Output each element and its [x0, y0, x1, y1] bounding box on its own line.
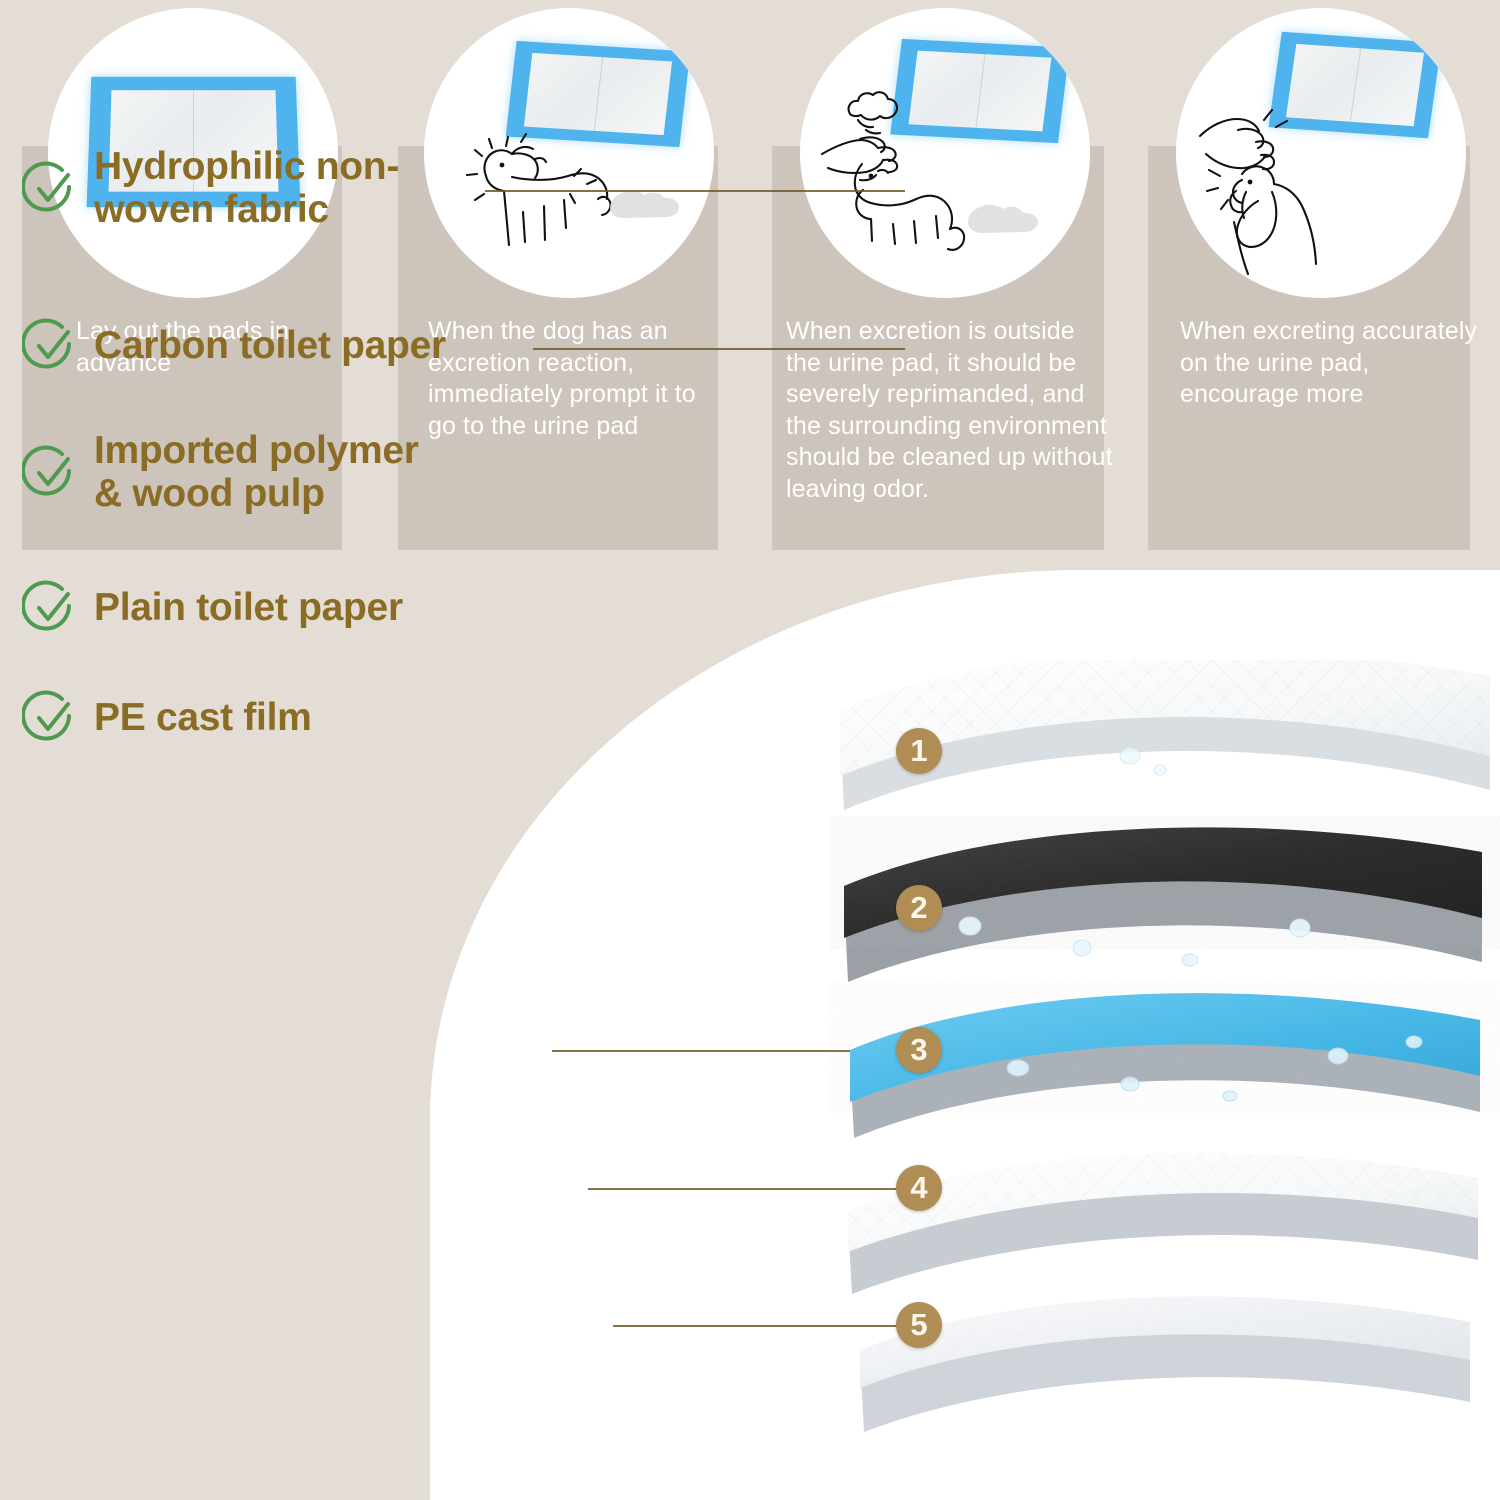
- layer-sheet-4: [848, 1153, 1478, 1294]
- dog-sniffing-icon: [424, 8, 714, 298]
- step-illustration-2: [424, 8, 714, 298]
- hand-scolding-dog-icon: [800, 8, 1090, 298]
- feature-row-3: Imported polymer & wood pulp: [22, 430, 419, 516]
- feature-row-5: PE cast film: [22, 690, 312, 746]
- step-caption-2: When the dog has an excretion reaction, …: [428, 316, 718, 442]
- feature-label-2: Carbon toilet paper: [94, 325, 446, 368]
- feature-row-2: Carbon toilet paper: [22, 318, 446, 374]
- feature-label-3: Imported polymer & wood pulp: [94, 430, 419, 516]
- check-circle-icon: [22, 580, 78, 636]
- feature-row-4: Plain toilet paper: [22, 580, 403, 636]
- layer-number-4: 4: [896, 1165, 942, 1211]
- layer-number-5: 5: [896, 1302, 942, 1348]
- check-circle-icon: [22, 445, 78, 501]
- check-circle-icon: [22, 161, 78, 217]
- leader-line-1: [485, 190, 905, 192]
- step-illustration-4: [1176, 8, 1466, 298]
- pad-layer-illustration: [830, 660, 1500, 1490]
- layer-number-1: 1: [896, 728, 942, 774]
- feature-label-1: Hydrophilic non- woven fabric: [94, 146, 399, 232]
- feature-label-5: PE cast film: [94, 697, 312, 740]
- step-illustration-3: [800, 8, 1090, 298]
- layer-sheet-1: [840, 660, 1490, 810]
- layer-sheet-3: [850, 993, 1480, 1138]
- layer-number-2: 2: [896, 885, 942, 931]
- step-caption-4: When excreting accurately on the urine p…: [1180, 316, 1480, 411]
- step-caption-3: When excretion is outside the urine pad,…: [786, 316, 1116, 505]
- leader-line-2: [533, 348, 905, 350]
- layer-number-3: 3: [896, 1027, 942, 1073]
- feature-label-4: Plain toilet paper: [94, 587, 403, 630]
- check-circle-icon: [22, 690, 78, 746]
- check-circle-icon: [22, 318, 78, 374]
- layer-sheet-5: [860, 1296, 1470, 1432]
- feature-row-1: Hydrophilic non- woven fabric: [22, 146, 399, 232]
- hand-petting-dog-icon: [1176, 8, 1466, 298]
